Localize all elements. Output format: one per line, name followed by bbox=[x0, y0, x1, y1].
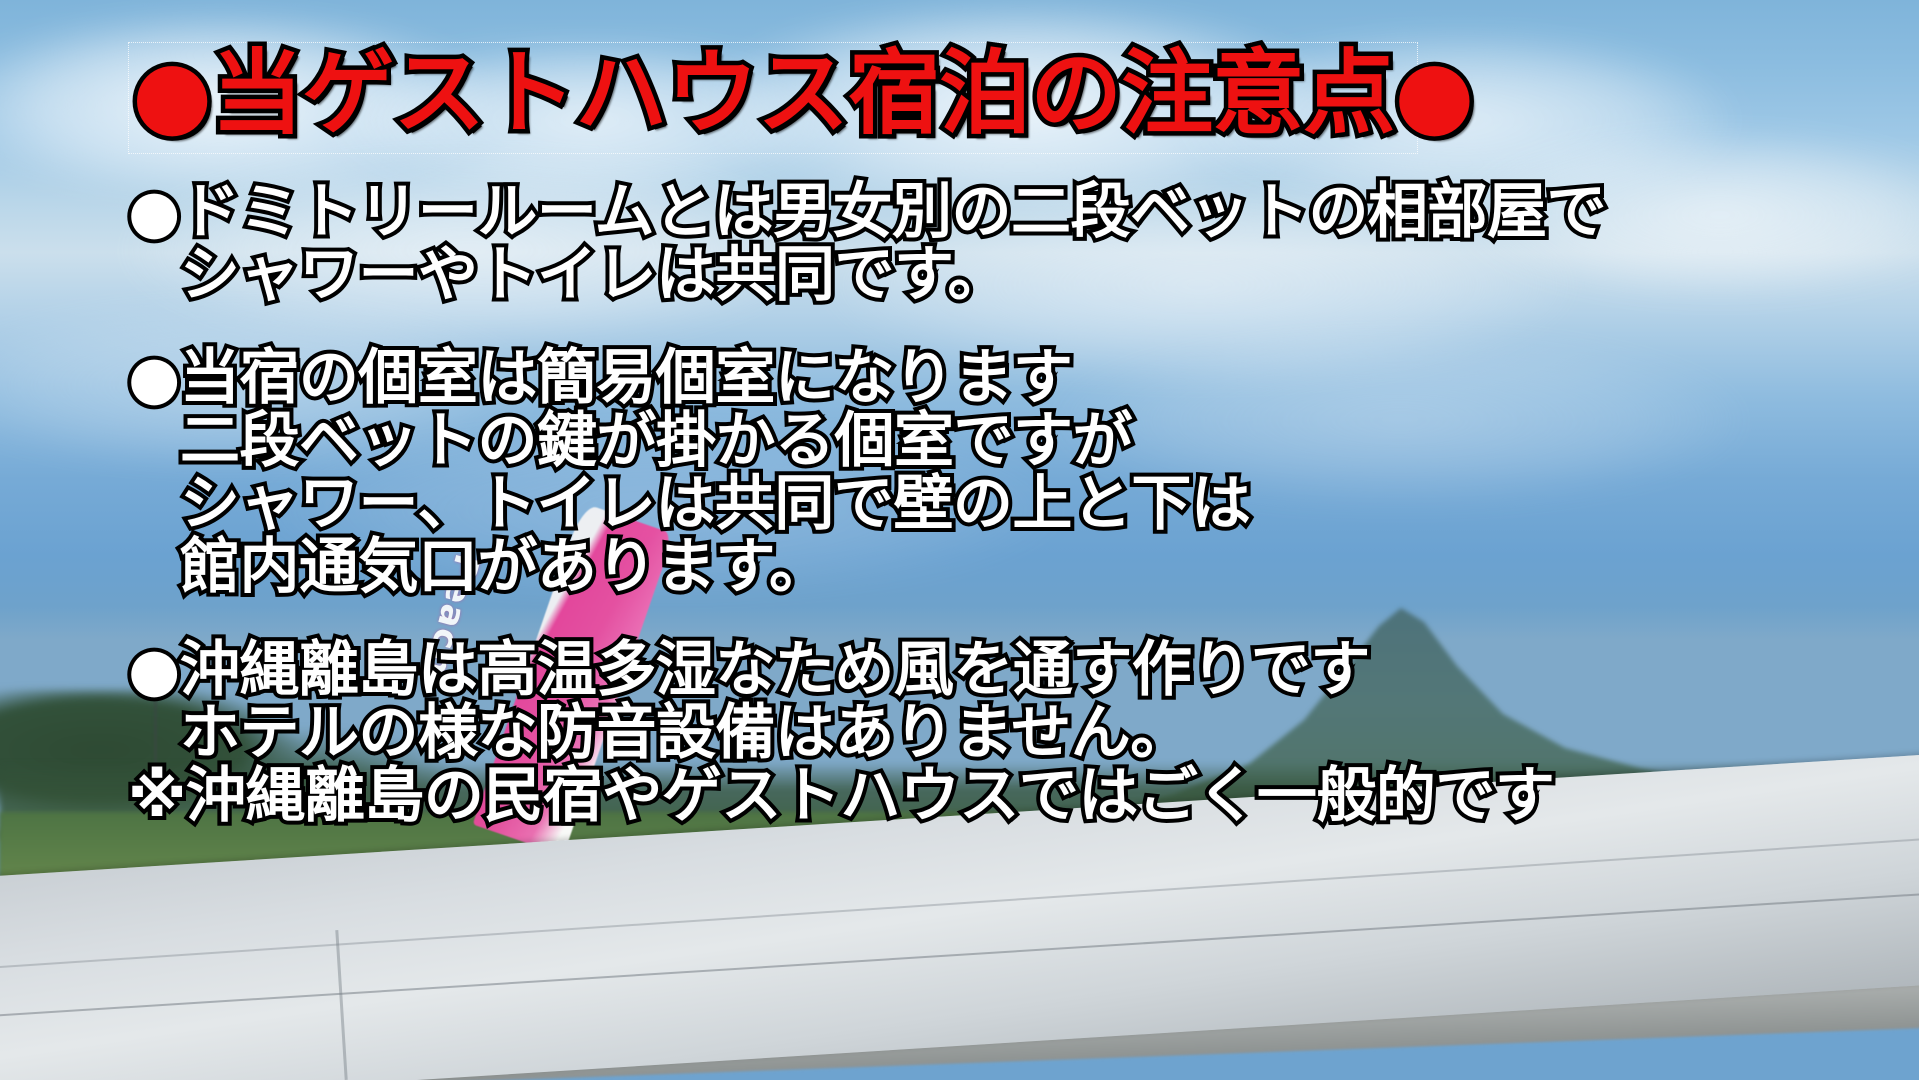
caption-overlay: ●当ゲストハウス宿泊の注意点● ●ドミトリールームとは男女別の二段ベットの相部屋… bbox=[0, 0, 1919, 1080]
notice-line: 二段ベットの鍵が掛かる個室ですが bbox=[128, 411, 1828, 472]
video-frame: Peach ●当ゲストハウス宿泊の注意点● ●ドミトリールームとは男女別の二段ベ… bbox=[0, 0, 1919, 1080]
paragraph-climate-soundproofing-note: ●沖縄離島は高温多湿なため風を通す作りです ホテルの様な防音設備はありません。 … bbox=[128, 640, 1828, 827]
notice-line: 館内通気口があります。 bbox=[128, 537, 1828, 598]
paragraph-dormitory-note: ●ドミトリールームとは男女別の二段ベットの相部屋で シャワーやトイレは共同です。 bbox=[128, 182, 1828, 306]
notice-line: ●当宿の個室は簡易個室になります bbox=[128, 348, 1828, 409]
notice-line: ※沖縄離島の民宿やゲストハウスではごく一般的です bbox=[128, 766, 1828, 827]
notice-body: ●ドミトリールームとは男女別の二段ベットの相部屋で シャワーやトイレは共同です。… bbox=[128, 182, 1828, 869]
paragraph-private-room-note: ●当宿の個室は簡易個室になります 二段ベットの鍵が掛かる個室ですが シャワー、ト… bbox=[128, 348, 1828, 598]
notice-line: ホテルの様な防音設備はありません。 bbox=[128, 703, 1828, 764]
notice-line: ●ドミトリールームとは男女別の二段ベットの相部屋で bbox=[128, 182, 1828, 243]
notice-line: ●沖縄離島は高温多湿なため風を通す作りです bbox=[128, 640, 1828, 701]
page-title: ●当ゲストハウス宿泊の注意点● bbox=[132, 38, 1422, 150]
notice-line: シャワー、トイレは共同で壁の上と下は bbox=[128, 474, 1828, 535]
notice-line: シャワーやトイレは共同です。 bbox=[128, 245, 1828, 306]
